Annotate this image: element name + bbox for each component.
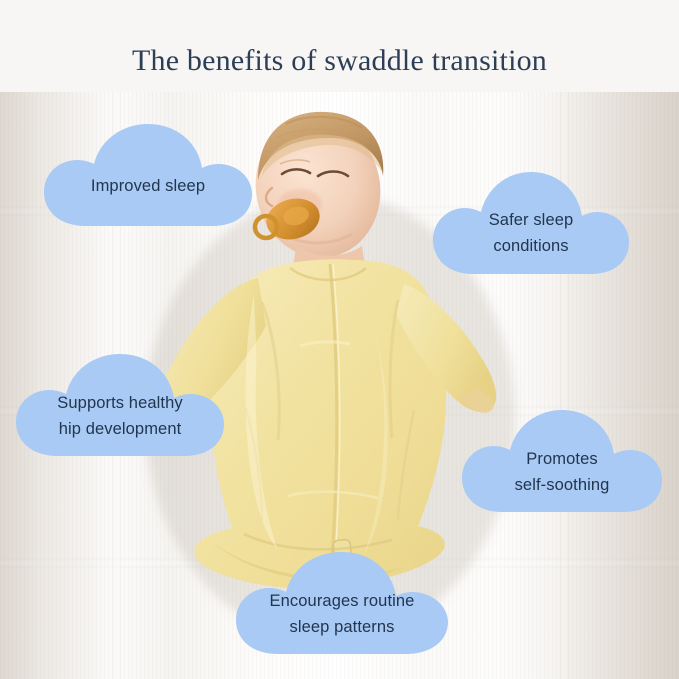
cloud-hip-development[interactable]: Supports healthy hip development bbox=[14, 348, 226, 460]
cloud-label: Encourages routine sleep patterns bbox=[234, 588, 450, 640]
cloud-label: Supports healthy hip development bbox=[14, 390, 226, 442]
cloud-label: Safer sleep conditions bbox=[431, 207, 631, 259]
cloud-label: Promotes self-soothing bbox=[460, 446, 664, 498]
page-title: The benefits of swaddle transition bbox=[0, 44, 679, 78]
cloud-safer-sleep[interactable]: Safer sleep conditions bbox=[431, 166, 631, 278]
cloud-label: Improved sleep bbox=[42, 173, 254, 199]
cloud-routine-sleep[interactable]: Encourages routine sleep patterns bbox=[234, 546, 450, 658]
infographic-root: The benefits of swaddle transition Impro… bbox=[0, 0, 679, 679]
cloud-self-soothing[interactable]: Promotes self-soothing bbox=[460, 404, 664, 516]
cloud-improved-sleep[interactable]: Improved sleep bbox=[42, 118, 254, 230]
